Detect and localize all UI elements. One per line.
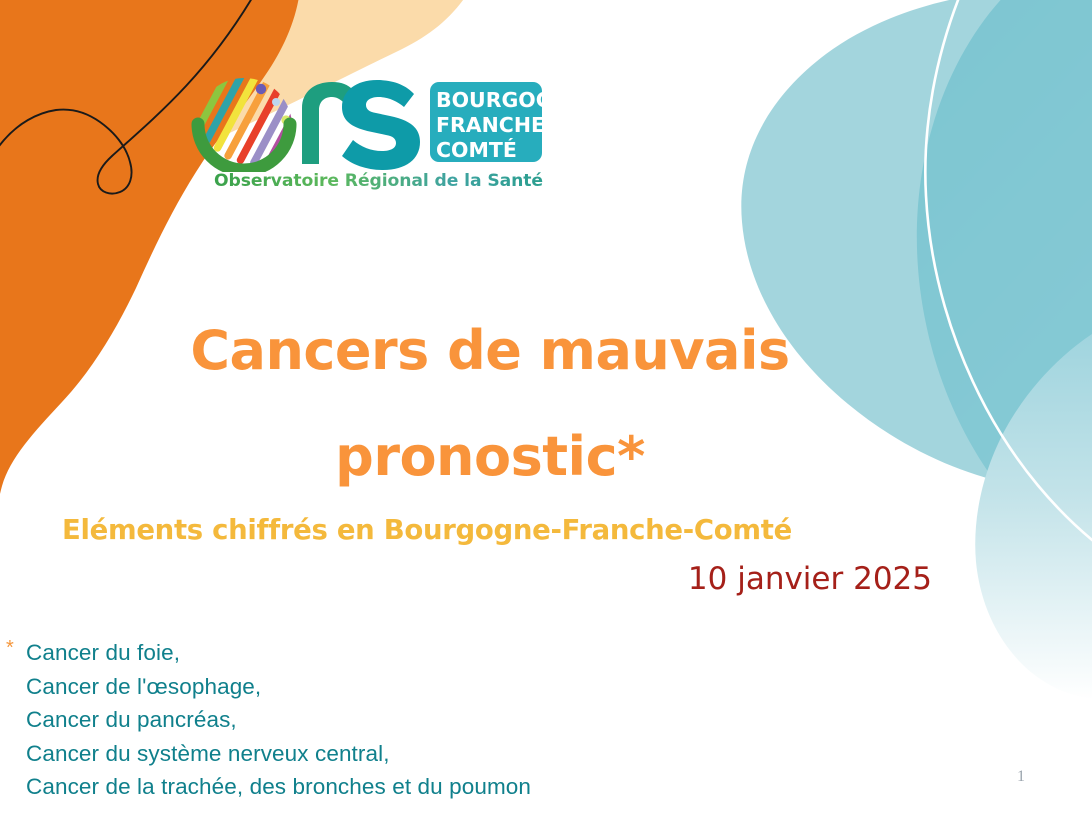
page-title: Cancers de mauvais pronostic* bbox=[0, 298, 980, 510]
ors-region-line-1: BOURGOGNE- bbox=[436, 88, 546, 112]
list-item: Cancer de l'œsophage, bbox=[26, 670, 766, 704]
footnote-asterisk-marker: * bbox=[6, 638, 14, 658]
list-item: Cancer du pancréas, bbox=[26, 703, 766, 737]
ors-logo-mark: BOURGOGNE- FRANCHE- COMTÉ bbox=[186, 72, 546, 172]
ors-letter-r-icon bbox=[302, 82, 352, 164]
ors-logo-tagline: Observatoire Régional de la Santé bbox=[214, 171, 543, 191]
page-title-line-1: Cancers de mauvais bbox=[0, 298, 980, 404]
page-title-line-2: pronostic* bbox=[0, 404, 980, 510]
footnote-list: Cancer du foie, Cancer de l'œsophage, Ca… bbox=[6, 636, 766, 804]
page-subtitle: Eléments chiffrés en Bourgogne-Franche-C… bbox=[62, 514, 792, 546]
ors-region-line-2: FRANCHE- bbox=[436, 113, 546, 137]
list-item: Cancer du système nerveux central, bbox=[26, 737, 766, 771]
list-item: Cancer de la trachée, des bronches et du… bbox=[26, 770, 766, 804]
ors-region-line-3: COMTÉ bbox=[436, 137, 517, 162]
presentation-date: 10 janvier 2025 bbox=[0, 561, 932, 597]
footnote-block: * Cancer du foie, Cancer de l'œsophage, … bbox=[6, 636, 766, 804]
teal-gradient-drop-shape bbox=[975, 330, 1092, 700]
slide-canvas: BOURGOGNE- FRANCHE- COMTÉ Observatoire R… bbox=[0, 0, 1092, 818]
ors-logo: BOURGOGNE- FRANCHE- COMTÉ Observatoire R… bbox=[186, 72, 546, 196]
page-number: 1 bbox=[1006, 768, 1036, 786]
ors-letter-s-icon bbox=[342, 80, 420, 170]
list-item: Cancer du foie, bbox=[26, 636, 766, 670]
